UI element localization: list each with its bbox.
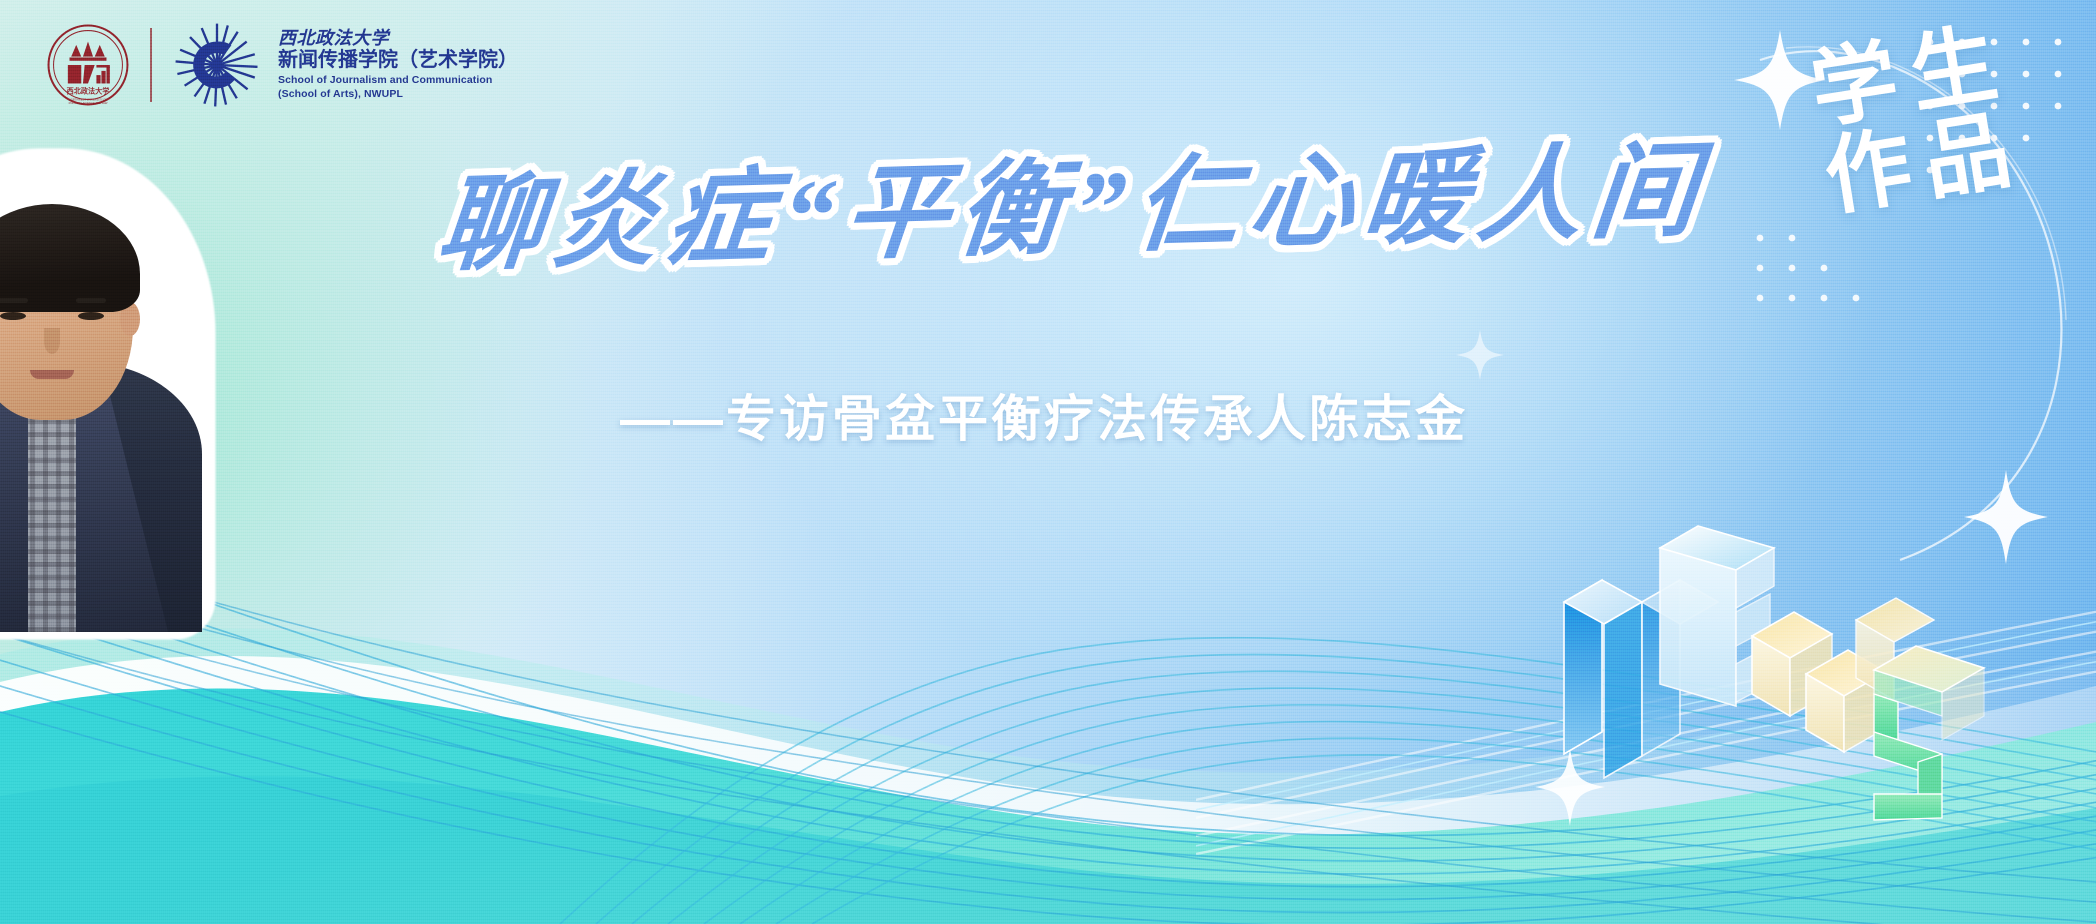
title-block: 聊炎症“平衡”仁心暖人间 ——专访骨盆平衡疗法传承人陈志金 (440, 140, 1780, 451)
logo-university-name-cn: 西北政法大学 (278, 29, 518, 47)
logo-school-name-en-1: School of Journalism and Communication (278, 74, 518, 87)
news-3d-wordmark (1556, 494, 2026, 824)
svg-text:POLITICAL SCIENCE AND LAW: POLITICAL SCIENCE AND LAW (69, 101, 108, 105)
svg-text:NORTHWEST UNIVERSITY OF: NORTHWEST UNIVERSITY OF (69, 97, 108, 101)
svg-text:西北政法大学: 西北政法大学 (67, 87, 110, 96)
news-banner: 西北政法大学 NORTHWEST UNIVERSITY OF POLITICAL… (0, 0, 2096, 924)
page-subtitle: ——专访骨盆平衡疗法传承人陈志金 (620, 379, 1780, 451)
logo-school-name-cn: 新闻传播学院（艺术学院） (278, 50, 518, 70)
university-seal-icon: 西北政法大学 NORTHWEST UNIVERSITY OF POLITICAL… (46, 23, 130, 107)
student-work-badge: 学生 作品 (1792, 18, 2031, 225)
news-letter-S (1874, 646, 1984, 820)
logo-divider (150, 28, 152, 102)
school-sunburst-logo-icon (172, 20, 262, 110)
logo-text-block: 西北政法大学 新闻传播学院（艺术学院） School of Journalism… (278, 29, 518, 101)
logo-school-name-en-2: (School of Arts), NWUPL (278, 88, 518, 101)
institution-logo-bar: 西北政法大学 NORTHWEST UNIVERSITY OF POLITICAL… (46, 20, 518, 110)
